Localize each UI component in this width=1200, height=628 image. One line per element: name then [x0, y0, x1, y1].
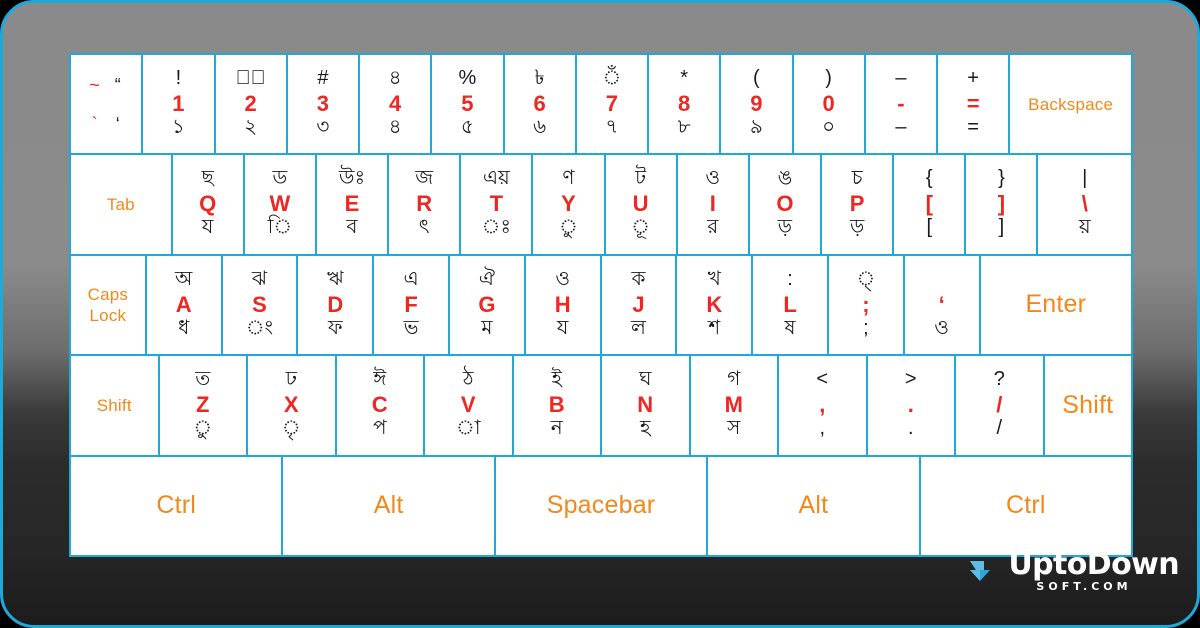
glyph-top: জ — [415, 168, 433, 192]
glyph-bot: শ — [708, 318, 720, 342]
glyph-top: % — [458, 68, 476, 92]
glyph-mid: I — [710, 192, 716, 217]
glyph-mid: - — [897, 92, 904, 117]
glyph-bot: ও — [934, 318, 949, 342]
glyph-mid: 1 — [172, 92, 184, 117]
glyph-top: ঋ — [327, 269, 344, 293]
glyph-mid: U — [633, 192, 649, 217]
glyph-top-left: ~ — [89, 76, 100, 94]
glyph-mid: [ — [926, 192, 933, 217]
glyph-bot: য় — [1079, 217, 1091, 241]
glyph-mid: 2 — [245, 92, 257, 117]
key-bracket-left[interactable]: {[[ — [894, 155, 964, 253]
glyph-top: ঠ — [463, 369, 474, 393]
glyph-bot: য — [202, 217, 214, 241]
glyph-bot: ৬ — [533, 117, 546, 141]
glyph-top: < — [816, 369, 828, 393]
key-label-alt-right: Alt — [799, 490, 829, 521]
glyph-top: ! — [176, 68, 182, 92]
glyph-mid: ] — [998, 192, 1005, 217]
glyph-top: গ — [727, 369, 740, 393]
key-label-ctrl-left: Ctrl — [156, 490, 196, 521]
glyph-top: | — [1082, 168, 1087, 192]
glyph-bot: ৎ — [419, 217, 430, 241]
key-enter[interactable]: Enter — [981, 256, 1132, 354]
key-tab[interactable]: Tab — [71, 155, 171, 253]
key-ctrl-left[interactable]: Ctrl — [71, 457, 281, 555]
key-key-p[interactable]: চPড় — [822, 155, 892, 253]
key-label-backspace: Backspace — [1028, 94, 1113, 115]
glyph-bot: / — [996, 418, 1002, 442]
watermark-logo: UptoDown SOFT.COM — [968, 549, 1179, 593]
glyph-top: ) — [825, 68, 832, 92]
glyph-mid: 3 — [317, 92, 329, 117]
key-label-tab: Tab — [107, 194, 135, 215]
key-row-modifier-row: CtrlAltSpacebarAltCtrl — [71, 457, 1131, 555]
glyph-top: ঈ — [373, 369, 386, 393]
glyph-bot: র — [707, 217, 718, 241]
glyph-mid: S — [252, 293, 267, 318]
watermark-main-text: UptoDown — [1008, 550, 1179, 580]
glyph-top: # — [317, 68, 328, 92]
key-equal[interactable]: +== — [938, 55, 1008, 153]
glyph-top: ত — [195, 369, 210, 393]
glyph-mid: / — [996, 393, 1002, 418]
glyph-bot: ৪ — [389, 117, 402, 141]
glyph-mid: C — [372, 393, 388, 418]
glyph-top: ( — [753, 68, 760, 92]
glyph-mid: P — [850, 192, 865, 217]
glyph-top: ্ — [857, 269, 876, 293]
glyph-mid: , — [819, 393, 825, 418]
glyph-bot: , — [819, 418, 825, 442]
glyph-top: ই — [552, 369, 562, 393]
key-backquote[interactable]: ~“`‘ — [71, 55, 141, 153]
glyph-mid: Y — [561, 192, 576, 217]
key-alt-right[interactable]: Alt — [708, 457, 918, 555]
glyph-top: উঃ — [339, 168, 365, 192]
download-arrow-icon — [968, 554, 1002, 588]
glyph-top: ক — [631, 269, 645, 293]
glyph-mid: = — [967, 92, 980, 117]
key-key-c[interactable]: ঈCপ — [337, 356, 424, 454]
key-caps-lock[interactable]: Caps Lock — [71, 256, 145, 354]
key-quote[interactable]: ‘ও — [905, 256, 979, 354]
glyph-mid: 0 — [823, 92, 835, 117]
glyph-top: ঙ — [778, 168, 793, 192]
key-semicolon[interactable]: ্;; — [829, 256, 903, 354]
glyph-top: { — [926, 168, 933, 192]
key-key-q[interactable]: ছQয — [173, 155, 243, 253]
glyph-mid: 6 — [534, 92, 546, 117]
glyph-bot: ি — [268, 217, 292, 241]
glyph-bot: [ — [926, 217, 932, 241]
glyph-mid: X — [284, 393, 299, 418]
glyph-top: ছ — [202, 168, 214, 192]
glyph-bot: ম — [481, 318, 492, 342]
key-key-y[interactable]: ণYু — [533, 155, 603, 253]
glyph-bot: ৃ — [282, 418, 301, 442]
keyboard-layout: ~“`‘!1১২⃝2২#3৩৪4৪%5৫৳6৬ঁ7৭*8৮(9৯)0০–-–+=… — [69, 53, 1133, 557]
glyph-bot: ৭ — [605, 117, 618, 141]
glyph-mid: H — [555, 293, 571, 318]
glyph-top: : — [787, 269, 793, 293]
key-backslash[interactable]: |\য় — [1038, 155, 1131, 253]
glyph-bottom-left: ` — [92, 115, 98, 133]
glyph-top: ৪ — [389, 68, 402, 92]
glyph-bot: ষ — [785, 318, 796, 342]
key-label-shift-right: Shift — [1062, 390, 1113, 421]
glyph-top: ঐ — [479, 269, 495, 293]
glyph-bottom-right: ‘ — [116, 115, 120, 133]
glyph-bot: ড় — [778, 217, 792, 241]
glyph-top: এয় — [483, 168, 510, 192]
key-spacebar[interactable]: Spacebar — [496, 457, 706, 555]
glyph-bot: ফ — [328, 318, 343, 342]
key-row-number-row: ~“`‘!1১২⃝2২#3৩৪4৪%5৫৳6৬ঁ7৭*8৮(9৯)0০–-–+=… — [71, 55, 1131, 153]
glyph-bot: – — [895, 117, 906, 141]
glyph-top: > — [905, 369, 917, 393]
watermark-sub-text: SOFT.COM — [1036, 581, 1179, 592]
glyph-top: ও — [705, 168, 720, 192]
key-label-ctrl-right: Ctrl — [1006, 490, 1046, 521]
glyph-mid: \ — [1082, 192, 1088, 217]
key-key-u[interactable]: টUূ — [606, 155, 676, 253]
glyph-mid: J — [632, 293, 644, 318]
glyph-top: ৳ — [535, 68, 545, 92]
key-row-bottom-letter-row: ShiftতZুঢXৃঈCপঠVাইBনঘNহগMস<,,>..?//Shift — [71, 356, 1131, 454]
glyph-bot: ২ — [244, 117, 257, 141]
glyph-bot: ন — [551, 418, 563, 442]
glyph-bot: ঃ — [482, 217, 511, 241]
key-key-b[interactable]: ইBন — [514, 356, 601, 454]
glyph-top: ঝ — [252, 269, 267, 293]
key-key-d[interactable]: ঋDফ — [298, 256, 372, 354]
key-digit-9[interactable]: (9৯ — [721, 55, 791, 153]
glyph-mid: T — [490, 192, 503, 217]
key-key-h[interactable]: ওHয — [526, 256, 600, 354]
glyph-mid: ; — [862, 293, 869, 318]
glyph-mid: K — [706, 293, 722, 318]
key-label-caps-lock: Caps Lock — [88, 284, 129, 327]
key-digit-0[interactable]: )0০ — [794, 55, 864, 153]
glyph-bot: ধ — [178, 318, 189, 342]
glyph-bot: ূ — [631, 217, 650, 241]
glyph-top: ঁ — [603, 68, 622, 92]
glyph-bot: ৩ — [316, 117, 329, 141]
glyph-mid: 5 — [461, 92, 473, 117]
key-digit-3[interactable]: #3৩ — [288, 55, 358, 153]
key-row-top-letter-row: TabছQযডWিউঃEবজRৎএয়TঃণYুটUূওIরঙOড়চPড়{[[… — [71, 155, 1131, 253]
glyph-bot: া — [456, 418, 481, 442]
key-key-e[interactable]: উঃEব — [317, 155, 387, 253]
key-key-w[interactable]: ডWি — [245, 155, 315, 253]
glyph-bot: ু — [559, 217, 578, 241]
glyph-top: ট — [635, 168, 646, 192]
key-row-home-row: Caps LockঅAধঝSংঋDফএFভঐGমওHযকJলখKশ:Lষ্;;‘… — [71, 256, 1131, 354]
glyph-mid: A — [176, 293, 192, 318]
glyph-top: } — [998, 168, 1005, 192]
key-key-v[interactable]: ঠVা — [425, 356, 512, 454]
glyph-mid: D — [327, 293, 343, 318]
glyph-bot: ু — [193, 418, 212, 442]
glyph-bot: হ — [640, 418, 651, 442]
key-label-spacebar: Spacebar — [547, 490, 656, 521]
glyph-bot: ; — [863, 318, 869, 342]
key-minus[interactable]: –-– — [866, 55, 936, 153]
glyph-top: * — [680, 68, 688, 92]
glyph-top: খ — [708, 269, 721, 293]
glyph-mid: 9 — [750, 92, 762, 117]
key-digit-8[interactable]: *8৮ — [649, 55, 719, 153]
glyph-bot: = — [967, 117, 979, 141]
key-digit-4[interactable]: ৪4৪ — [360, 55, 430, 153]
watermark-text: UptoDown SOFT.COM — [1008, 550, 1179, 592]
key-label-enter: Enter — [1025, 289, 1086, 320]
glyph-top: এ — [403, 269, 418, 293]
key-bracket-right[interactable]: }]] — [966, 155, 1036, 253]
glyph-mid: 8 — [678, 92, 690, 117]
key-label-alt-left: Alt — [374, 490, 404, 521]
glyph-mid: W — [269, 192, 290, 217]
key-key-m[interactable]: গMস — [691, 356, 778, 454]
glyph-mid: ‘ — [939, 293, 945, 318]
glyph-mid: F — [404, 293, 417, 318]
key-key-g[interactable]: ঐGম — [450, 256, 524, 354]
glyph-mid: 7 — [606, 92, 618, 117]
key-key-x[interactable]: ঢXৃ — [248, 356, 335, 454]
key-key-l[interactable]: :Lষ — [753, 256, 827, 354]
glyph-bot: ১ — [172, 117, 185, 141]
key-key-f[interactable]: এFভ — [374, 256, 448, 354]
glyph-mid: Z — [196, 393, 209, 418]
key-digit-6[interactable]: ৳6৬ — [505, 55, 575, 153]
key-key-a[interactable]: অAধ — [147, 256, 221, 354]
key-key-s[interactable]: ঝSং — [223, 256, 297, 354]
key-comma[interactable]: <,, — [779, 356, 866, 454]
key-alt-left[interactable]: Alt — [283, 457, 493, 555]
glyph-top: অ — [175, 269, 192, 293]
key-shift-right[interactable]: Shift — [1045, 356, 1132, 454]
glyph-top: ণ — [562, 168, 574, 192]
glyph-top-right: “ — [115, 76, 121, 94]
key-backspace[interactable]: Backspace — [1010, 55, 1131, 153]
glyph-bot: স — [727, 418, 740, 442]
glyph-mid: 4 — [389, 92, 401, 117]
key-key-r[interactable]: জRৎ — [389, 155, 459, 253]
glyph-bot: ল — [631, 318, 646, 342]
glyph-mid: . — [908, 393, 914, 418]
key-slash[interactable]: ?// — [956, 356, 1043, 454]
glyph-bot: ০ — [822, 117, 835, 141]
glyph-mid: M — [725, 393, 743, 418]
device-frame: ~“`‘!1১২⃝2২#3৩৪4৪%5৫৳6৬ঁ7৭*8৮(9৯)0০–-–+=… — [0, 0, 1200, 628]
glyph-mid: R — [416, 192, 432, 217]
key-key-t[interactable]: এয়Tঃ — [461, 155, 531, 253]
glyph-bot: ব — [346, 217, 357, 241]
glyph-mid: V — [461, 393, 476, 418]
glyph-bot: ং — [246, 318, 273, 342]
glyph-bot: ৫ — [461, 117, 474, 141]
glyph-top: ও — [555, 269, 570, 293]
glyph-top: চ — [852, 168, 863, 192]
glyph-mid: N — [637, 393, 653, 418]
glyph-bot: ভ — [404, 318, 419, 342]
key-shift-left[interactable]: Shift — [71, 356, 158, 454]
glyph-top: ২⃝ — [236, 68, 266, 92]
glyph-top: – — [895, 68, 906, 92]
key-digit-5[interactable]: %5৫ — [432, 55, 502, 153]
key-key-i[interactable]: ওIর — [678, 155, 748, 253]
glyph-top: ? — [994, 369, 1005, 393]
glyph-bot: ৯ — [750, 117, 763, 141]
glyph-mid: E — [345, 192, 360, 217]
glyph-bot: ] — [999, 217, 1005, 241]
key-digit-1[interactable]: !1১ — [143, 55, 213, 153]
glyph-bot: প — [373, 418, 387, 442]
glyph-top: ড — [272, 168, 287, 192]
key-key-z[interactable]: তZু — [160, 356, 247, 454]
key-digit-7[interactable]: ঁ7৭ — [577, 55, 647, 153]
glyph-top: + — [967, 68, 979, 92]
glyph-bot: ৮ — [678, 117, 691, 141]
glyph-mid: L — [783, 293, 796, 318]
glyph-mid: G — [478, 293, 495, 318]
key-key-j[interactable]: কJল — [602, 256, 676, 354]
key-digit-2[interactable]: ২⃝2২ — [216, 55, 286, 153]
glyph-bot: ড় — [850, 217, 864, 241]
glyph-mid: B — [549, 393, 565, 418]
glyph-bot: . — [908, 418, 914, 442]
key-period[interactable]: >.. — [868, 356, 955, 454]
key-key-n[interactable]: ঘNহ — [602, 356, 689, 454]
glyph-mid: Q — [199, 192, 216, 217]
glyph-bot: য — [557, 318, 569, 342]
key-key-o[interactable]: ঙOড় — [750, 155, 820, 253]
glyph-top: ঘ — [639, 369, 651, 393]
glyph-top: ঢ — [286, 369, 297, 393]
key-key-k[interactable]: খKশ — [677, 256, 751, 354]
glyph-mid: O — [776, 192, 793, 217]
key-label-shift-left: Shift — [97, 395, 132, 416]
key-ctrl-right[interactable]: Ctrl — [921, 457, 1131, 555]
